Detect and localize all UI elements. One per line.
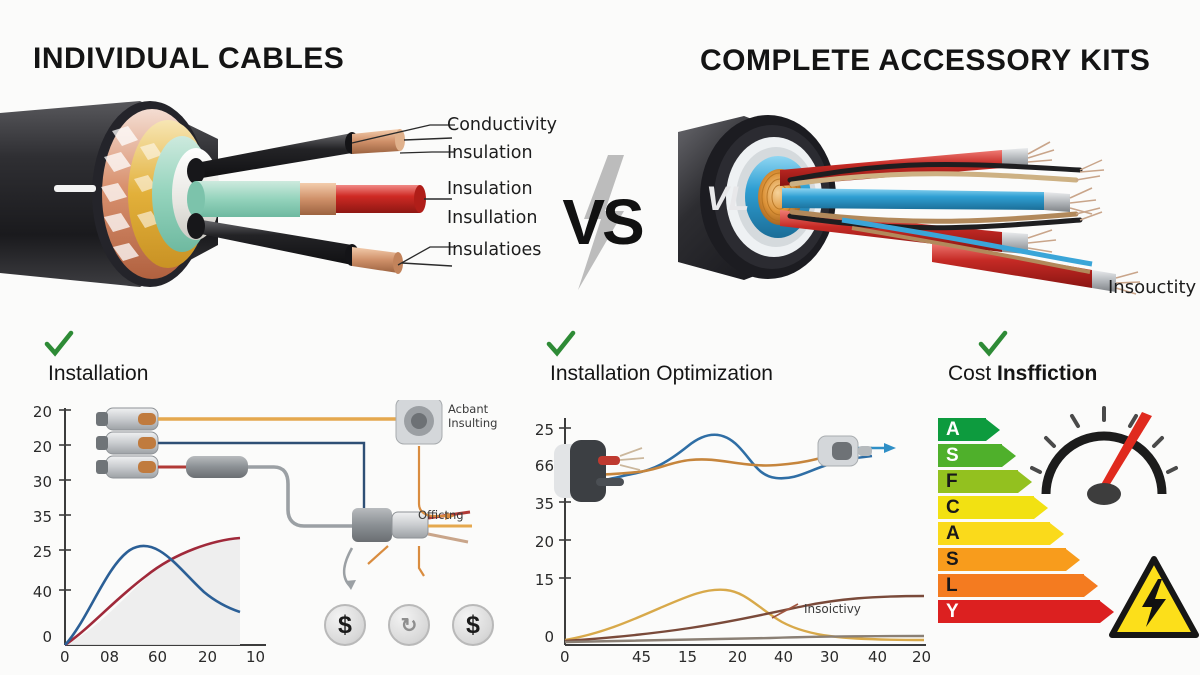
electrical-hazard-icon [1108,555,1200,641]
energy-bar-letter: F [946,470,958,493]
callout-insullation: Insullation [447,208,537,228]
energy-bar-row[interactable]: A [938,522,1114,545]
panel-installation-optimization: Installation Optimization 25 66 35 20 15… [520,330,930,675]
energy-bar-letter: S [946,548,959,571]
chart-installation-optimization: 25 66 35 20 15 0 0 45 15 20 40 30 40 20 [520,400,930,675]
check-icon [978,330,1008,358]
versus-label: VS [552,185,652,259]
energy-bar-letter: A [946,418,960,441]
diagram-label-acbant-insulting: Acbant Insulting [448,402,497,431]
callout-insouctity: Insouctity [1108,277,1196,298]
energy-bar-letter: Y [946,600,959,623]
check-icon [44,330,74,358]
callout-insulation-2: Insulation [447,179,533,199]
chart-annotation-insoictivy: Insoictivy [804,602,861,617]
callout-insulatioes: Insulatioes [447,240,541,260]
mid-left-connector-icon [548,434,668,524]
coin-icon-recycle[interactable]: ↻ [388,604,430,646]
cable-brand-text: VL [706,180,749,218]
left-wiring-diagram [18,400,518,675]
outlet-icon [396,400,442,444]
triple-connector-icon [96,408,158,478]
energy-bar-row[interactable]: L [938,574,1114,597]
energy-bar-row[interactable]: Y [938,600,1114,623]
gauge-icon [1030,398,1180,508]
page-title-right: COMPLETE ACCESSORY KITS [700,44,1150,78]
panel-right-heading-bold: Insffiction [997,362,1097,385]
energy-bar-letter: L [946,574,958,597]
coin-icon-dollar-2[interactable]: $ [452,604,494,646]
panel-mid-heading: Installation Optimization [550,362,773,386]
callout-insulation-1: Insulation [447,143,533,163]
infographic-canvas: INDIVIDUAL CABLES COMPLETE ACCESSORY KIT… [0,0,1200,675]
individual-cable-illustration [0,95,460,295]
versus-badge: VS [552,155,652,290]
check-icon [546,330,576,358]
energy-bar-row[interactable]: S [938,548,1114,571]
accessory-kit-cable-illustration: VL [672,92,1200,302]
panel-right-heading: Cost Insffiction [948,362,1097,386]
mid-right-connector-icon [814,430,884,476]
page-title-left: INDIVIDUAL CABLES [33,42,344,76]
panel-installation: Installation 20 20 30 35 25 40 0 0 08 60… [18,330,518,675]
energy-bar-letter: C [946,496,960,519]
diagram-label-offictng: Offictng [418,508,464,522]
coin-icon-dollar-1[interactable]: $ [324,604,366,646]
panel-left-heading: Installation [48,362,148,386]
energy-bar-letter: S [946,444,959,467]
energy-bar-letter: A [946,522,960,545]
callout-conductivity: Conductivity [447,115,557,135]
chart-installation: 20 20 30 35 25 40 0 0 08 60 20 10 [18,400,518,675]
panel-right-heading-plain: Cost [948,362,997,385]
